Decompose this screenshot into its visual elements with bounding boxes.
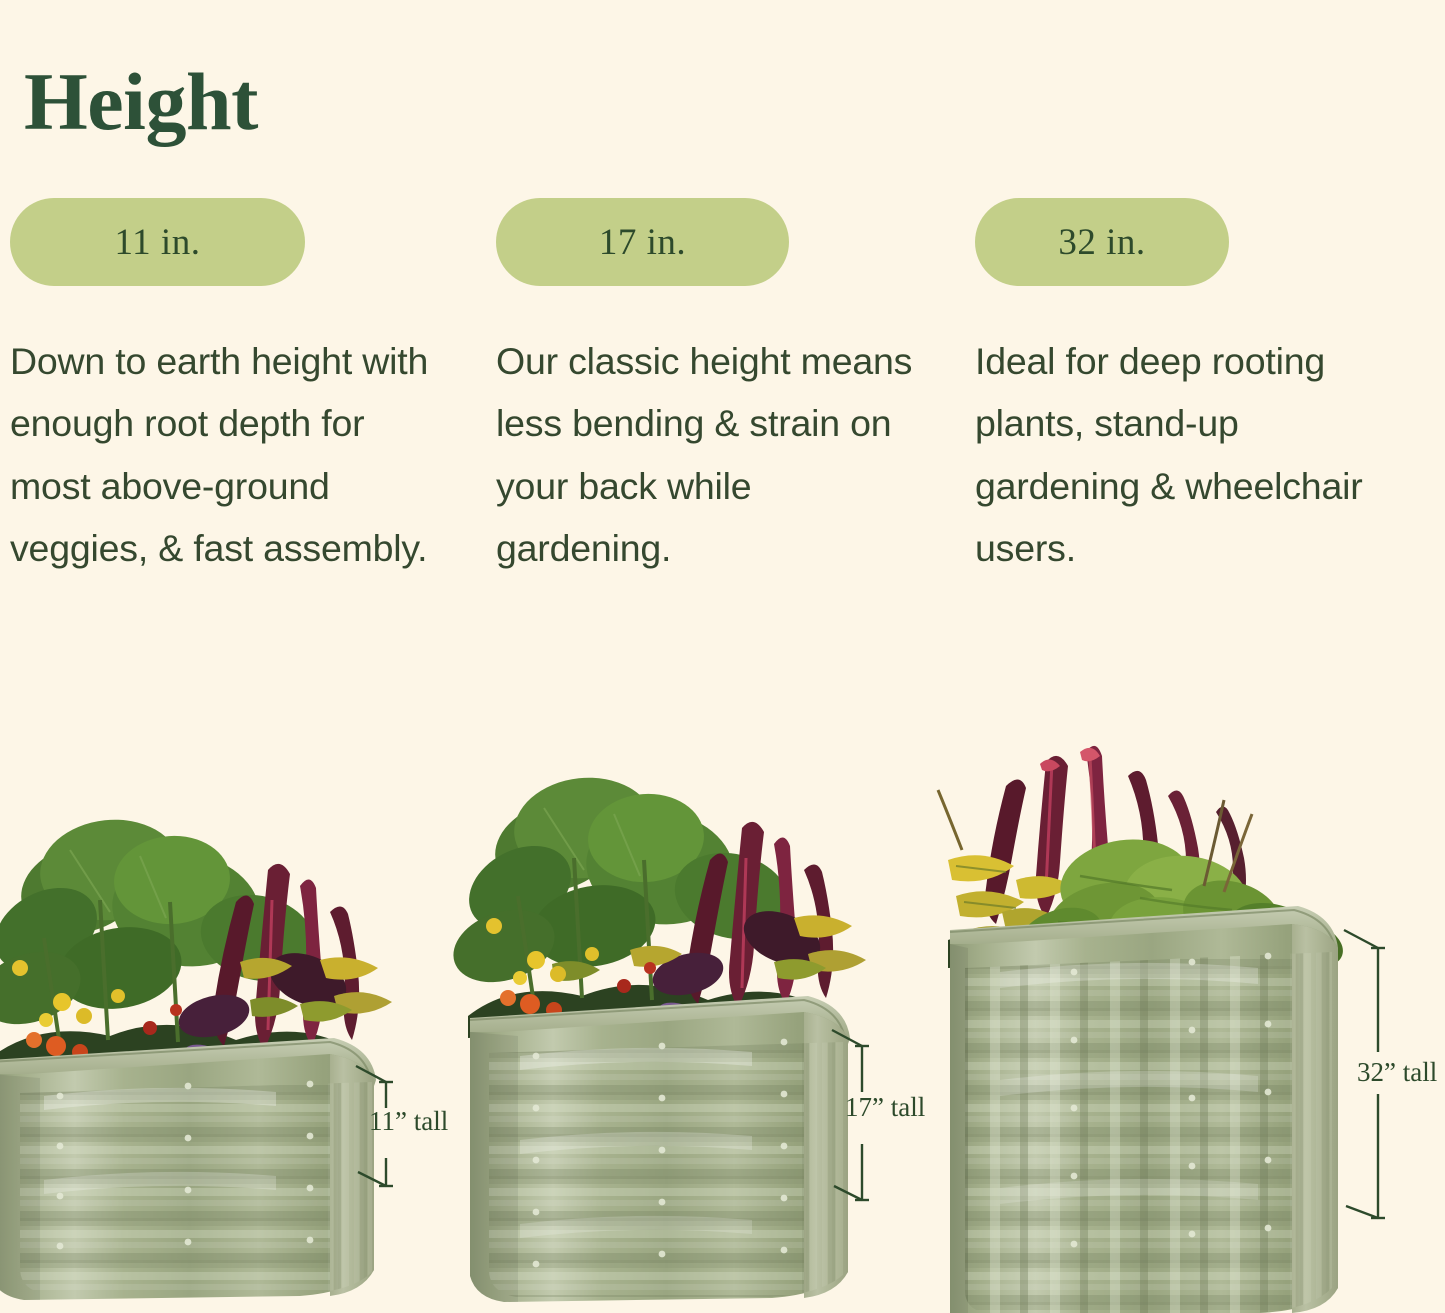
plants-32in [938, 746, 1349, 984]
dimension-label-17in: 17” tall [845, 1092, 925, 1123]
height-description-17in: Our classic height means less bending & … [496, 330, 916, 579]
height-option-17in: 17 in. Our classic height means less ben… [487, 198, 963, 617]
height-option-11in: 11 in. Down to earth height with enough … [0, 198, 487, 617]
height-badge-32in: 32 in. [975, 198, 1229, 286]
height-options-row: 11 in. Down to earth height with enough … [0, 198, 1445, 617]
height-option-32in: 32 in. Ideal for deep rooting plants, st… [963, 198, 1445, 617]
planter-bed-17in [444, 771, 880, 1313]
dimension-label-32in: 32” tall [1357, 1057, 1437, 1088]
dimension-label-11in: 11” tall [369, 1106, 448, 1137]
page-title: Height [24, 51, 258, 154]
height-badge-17in: 17 in. [496, 198, 789, 286]
planter-bed-11in [0, 813, 400, 1313]
height-description-11in: Down to earth height with enough root de… [10, 330, 430, 579]
plants-17in [444, 771, 866, 1051]
planter-illustrations [0, 0, 1445, 1313]
height-description-32in: Ideal for deep rooting plants, stand-up … [975, 330, 1375, 579]
planter-bed-32in [938, 746, 1360, 1313]
height-badge-11in: 11 in. [10, 198, 305, 286]
plants-11in [0, 813, 392, 1093]
